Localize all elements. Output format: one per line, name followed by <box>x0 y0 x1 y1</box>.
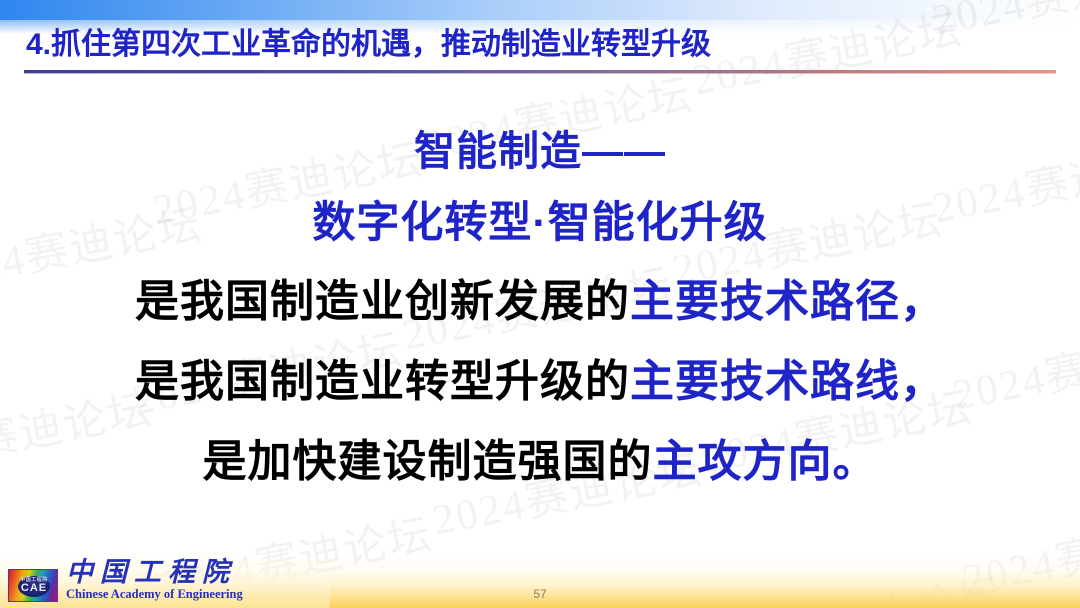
organization-name-cn: 中国工程院 <box>66 557 243 587</box>
body-line-4-highlight: 主要技术路线， <box>630 357 945 406</box>
body-line-5-highlight: 主攻方向。 <box>653 437 878 486</box>
body-line-4: 是我国制造业转型升级的主要技术路线， <box>0 342 1080 422</box>
page-title: 4.抓住第四次工业革命的机遇，推动制造业转型升级 <box>0 26 1080 64</box>
body-line-4-black: 是我国制造业转型升级的 <box>135 357 630 406</box>
body-line-3-highlight: 主要技术路径， <box>630 277 945 326</box>
top-gradient-band-highlight <box>0 0 1080 20</box>
body-line-3-black: 是我国制造业创新发展的 <box>135 277 630 326</box>
body-line-5: 是加快建设制造强国的主攻方向。 <box>0 422 1080 502</box>
body-line-2: 数字化转型·智能化升级 <box>0 184 1080 262</box>
slide-body: 智能制造—— 数字化转型·智能化升级 是我国制造业创新发展的主要技术路径， 是我… <box>0 118 1080 502</box>
page-number: 57 <box>0 587 1080 601</box>
body-line-1: 智能制造—— <box>0 118 1080 184</box>
presentation-slide: 2024赛迪论坛2024赛迪论坛2024赛迪论坛2024赛迪论坛2024赛迪论坛… <box>0 0 1080 608</box>
body-line-5-black: 是加快建设制造强国的 <box>203 437 653 486</box>
body-line-3: 是我国制造业创新发展的主要技术路径， <box>0 262 1080 342</box>
slide-title-area: 4.抓住第四次工业革命的机遇，推动制造业转型升级 <box>0 26 1080 64</box>
title-divider-shadow <box>24 73 1056 74</box>
